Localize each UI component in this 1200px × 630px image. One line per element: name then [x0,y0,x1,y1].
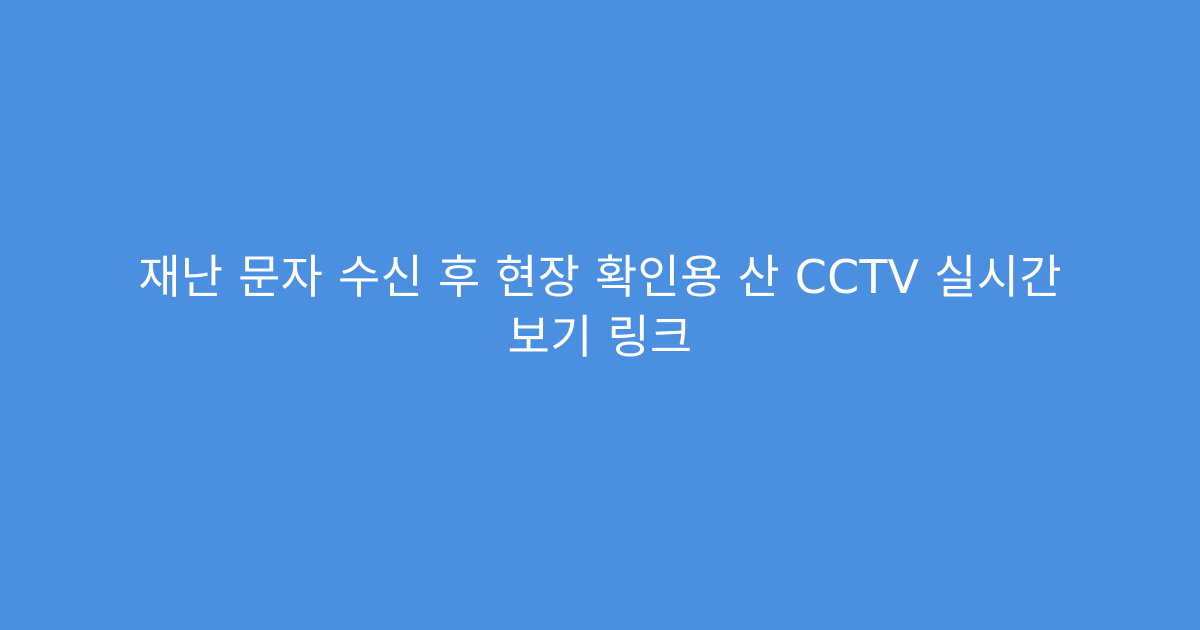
share-card: 재난 문자 수신 후 현장 확인용 산 CCTV 실시간 보기 링크 [0,0,1200,630]
page-title: 재난 문자 수신 후 현장 확인용 산 CCTV 실시간 보기 링크 [100,247,1100,367]
headline-container: 재난 문자 수신 후 현장 확인용 산 CCTV 실시간 보기 링크 [90,247,1110,367]
